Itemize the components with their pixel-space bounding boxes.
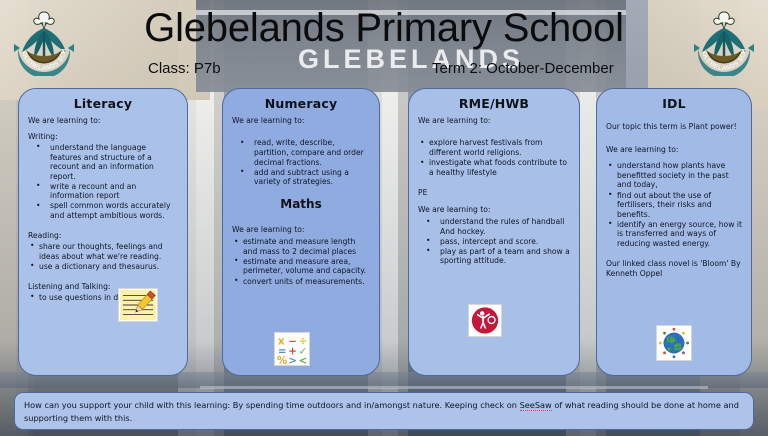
- card-rme-hwb-pe-bullets: understand the rules of handball And hoc…: [418, 217, 570, 266]
- svg-text:>: >: [288, 355, 297, 365]
- list-item: convert units of measurements.: [243, 277, 370, 287]
- list-item: play as part of a team and show a sporti…: [440, 247, 570, 266]
- list-item: read, write, describe, partition, compar…: [254, 138, 370, 167]
- notepad-pencil-icon: [118, 288, 158, 322]
- list-item: write a recount and an information repor…: [50, 182, 178, 201]
- card-idl-bullets: understand how plants have benefitted so…: [606, 161, 742, 248]
- list-item: share our thoughts, feelings and ideas a…: [39, 242, 178, 261]
- list-item: understand the language features and str…: [50, 143, 178, 181]
- list-item: spell common words accurately and attemp…: [50, 201, 178, 220]
- card-literacy-writing-bullets: understand the language features and str…: [28, 143, 178, 221]
- list-item: investigate what foods contribute to a h…: [429, 158, 570, 177]
- card-numeracy-maths-lead: We are learning to:: [232, 225, 370, 234]
- card-rme-hwb-title: RME/HWB: [418, 96, 570, 111]
- card-numeracy-maths-bullets: estimate and measure length and mass to …: [232, 237, 370, 286]
- list-item: pass, intercept and score.: [440, 237, 570, 247]
- list-item: understand how plants have benefitted so…: [617, 161, 742, 190]
- card-idl-lead: We are learning to:: [606, 145, 742, 154]
- card-numeracy-maths-title: Maths: [232, 197, 370, 211]
- list-item: understand the rules of handball And hoc…: [440, 217, 570, 236]
- card-rme-hwb-bullets: explore harvest festivals from different…: [418, 138, 570, 177]
- card-idl-novel: Our linked class novel is 'Bloom' By Ken…: [606, 259, 742, 279]
- card-literacy-writing-head: Writing:: [28, 132, 178, 141]
- globe-children-icon: [656, 325, 692, 361]
- svg-text:<: <: [299, 355, 308, 365]
- list-item: use a dictionary and thesaurus.: [39, 262, 178, 272]
- list-item: find out about the use of fertilisers, t…: [617, 191, 742, 220]
- card-idl-topic: Our topic this term is Plant power!: [606, 122, 742, 132]
- card-literacy-reading-head: Reading:: [28, 231, 178, 240]
- card-numeracy-title: Numeracy: [232, 96, 370, 111]
- footer-text-part1: How can you support your child with this…: [24, 400, 520, 410]
- footer-misspelled-word: SeeSaw: [520, 400, 552, 411]
- card-idl-title: IDL: [606, 96, 742, 111]
- card-literacy: Literacy We are learning to: Writing: un…: [18, 88, 188, 376]
- maths-symbols-icon: x − ÷ = + ✓ % > <: [274, 332, 310, 366]
- list-item: estimate and measure length and mass to …: [243, 237, 370, 256]
- card-numeracy-lead: We are learning to:: [232, 116, 370, 125]
- pe-sport-scotland-icon: [468, 304, 502, 337]
- term-newsletter-poster: GLEBELANDS GLEBELANDS SCHOOL: [0, 0, 768, 436]
- card-literacy-reading-bullets: share our thoughts, feelings and ideas a…: [28, 242, 178, 271]
- subject-cards-row: Literacy We are learning to: Writing: un…: [0, 0, 768, 436]
- list-item: identify an energy source, how it is tra…: [617, 220, 742, 249]
- list-item: explore harvest festivals from different…: [429, 138, 570, 157]
- card-numeracy-bullets: read, write, describe, partition, compar…: [232, 138, 370, 186]
- card-literacy-lead: We are learning to:: [28, 116, 178, 125]
- card-literacy-title: Literacy: [28, 96, 178, 111]
- card-rme-hwb-pe-lead: We are learning to:: [418, 205, 570, 214]
- list-item: add and subtract using a variety of stra…: [254, 168, 370, 187]
- parent-support-note-text: How can you support your child with this…: [24, 399, 744, 424]
- card-rme-hwb-lead: We are learning to:: [418, 116, 570, 125]
- parent-support-note: How can you support your child with this…: [14, 392, 754, 430]
- card-rme-hwb-pe-head: PE: [418, 188, 570, 197]
- list-item: estimate and measure area, perimeter, vo…: [243, 257, 370, 276]
- svg-text:%: %: [277, 355, 288, 365]
